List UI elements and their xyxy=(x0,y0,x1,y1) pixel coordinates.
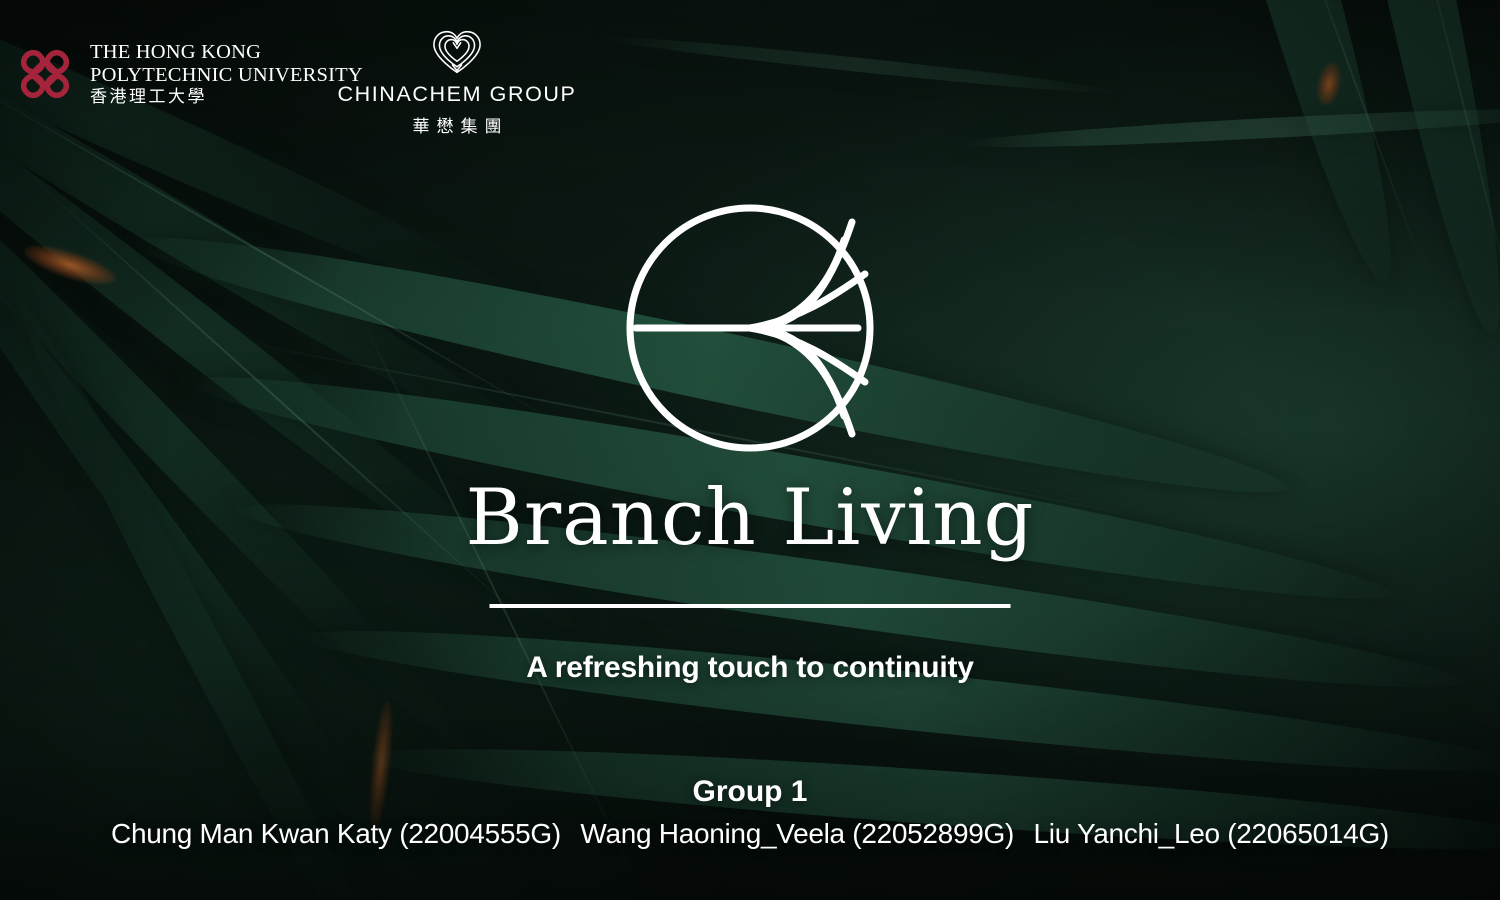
branch-circle-logo-icon xyxy=(622,200,878,456)
group-label: Group 1 xyxy=(0,775,1500,809)
member-name: Liu Yanchi_Leo (22065014G) xyxy=(1034,818,1389,849)
polyu-chinese-name: 香港理工大學 xyxy=(90,89,363,106)
title-slide: THE HONG KONG POLYTECHNIC UNIVERSITY 香港理… xyxy=(0,0,1500,900)
member-name: Chung Man Kwan Katy (22004555G) xyxy=(111,818,561,849)
title-divider xyxy=(490,604,1011,608)
member-list: Chung Man Kwan Katy (22004555G) Wang Hao… xyxy=(0,818,1500,850)
chinachem-logo: CHINACHEM GROUP 華懋集團 xyxy=(337,28,577,137)
polyu-knot-emblem-icon xyxy=(14,43,76,105)
member-name: Wang Haoning_Veela (22052899G) xyxy=(580,818,1014,849)
polyu-logo: THE HONG KONG POLYTECHNIC UNIVERSITY 香港理… xyxy=(14,42,363,106)
polyu-line2: POLYTECHNIC UNIVERSITY xyxy=(90,65,363,86)
double-heart-icon xyxy=(429,28,485,76)
tagline: A refreshing touch to continuity xyxy=(0,651,1500,685)
page-title: Branch Living xyxy=(0,473,1500,563)
polyu-line1: THE HONG KONG xyxy=(90,42,363,63)
chinachem-wordmark: CHINACHEM GROUP xyxy=(337,82,577,107)
chinachem-chinese-name: 華懋集團 xyxy=(337,112,577,137)
polyu-wordmark: THE HONG KONG POLYTECHNIC UNIVERSITY 香港理… xyxy=(90,42,363,106)
